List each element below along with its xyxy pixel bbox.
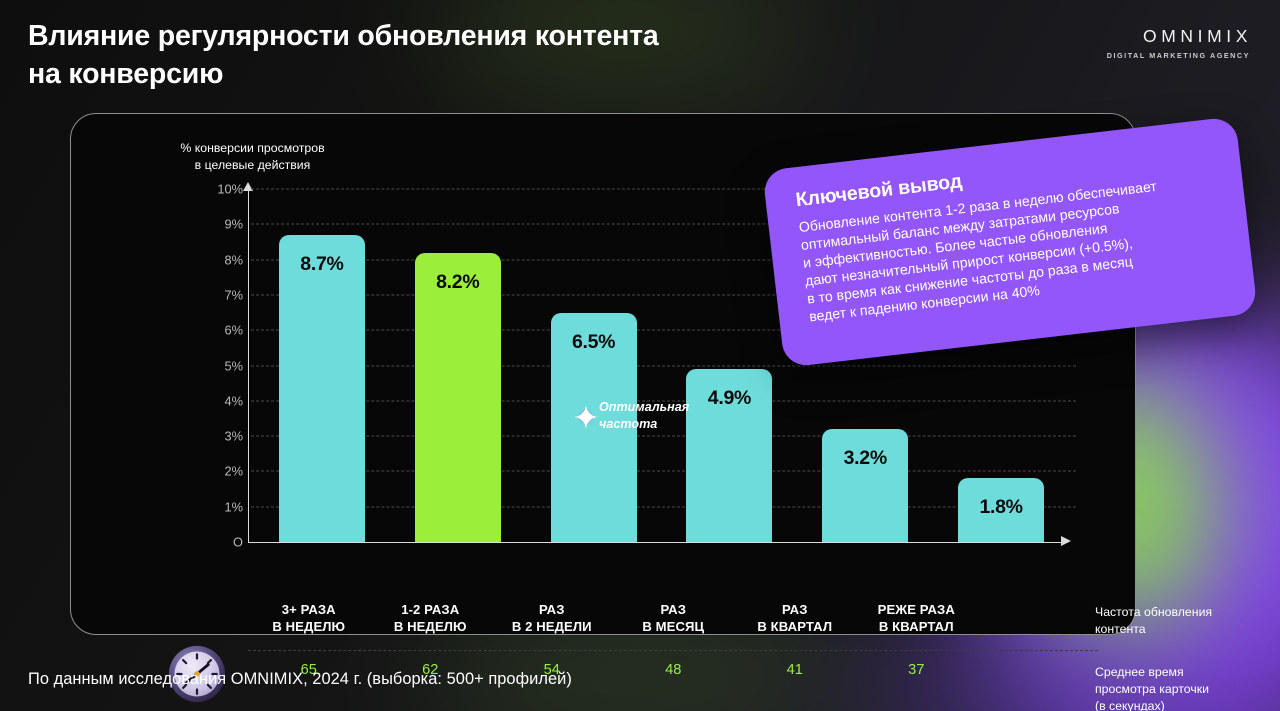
bar-value-label-4: 4.9% xyxy=(708,387,751,410)
category-label-3: РАЗ В 2 НЕДЕЛИ xyxy=(491,601,613,646)
page-title: Влияние регулярности обновления контента… xyxy=(28,18,659,94)
seconds-caption: Среднее время просмотра карточки (в секу… xyxy=(1095,664,1280,711)
y-axis-tick-6: 6% xyxy=(181,323,243,338)
source-footnote: По данным исследования OMNIMIX, 2024 г. … xyxy=(28,670,572,689)
seconds-value-6: 37 xyxy=(856,662,978,678)
bar-value-label-1: 8.7% xyxy=(300,253,343,276)
y-axis-tick-7: 7% xyxy=(181,287,243,302)
sparkle-icon xyxy=(573,404,599,430)
category-label-2: 1-2 РАЗА В НЕДЕЛЮ xyxy=(370,601,492,646)
y-axis-tick-3: 3% xyxy=(181,429,243,444)
y-axis-tick-10: 10% xyxy=(181,182,243,197)
y-axis-tick-2: 2% xyxy=(181,464,243,479)
x-axis-caption: Частота обновления контента xyxy=(1095,604,1280,638)
x-axis-line xyxy=(248,542,1063,543)
header: Влияние регулярности обновления контента… xyxy=(28,18,1252,94)
bar-4[interactable]: 4.9% xyxy=(686,369,772,542)
x-axis-category-labels: 3+ РАЗА В НЕДЕЛЮ1-2 РАЗА В НЕДЕЛЮРАЗ В 2… xyxy=(248,601,977,646)
category-label-4: РАЗ В МЕСЯЦ xyxy=(613,601,735,646)
brand-name: OMNIMIX xyxy=(1107,26,1252,47)
bar-2[interactable]: 8.2% xyxy=(415,253,501,542)
y-axis-tick-9: 9% xyxy=(181,217,243,232)
y-axis-tick-4: 4% xyxy=(181,393,243,408)
y-axis-tick-5: 5% xyxy=(181,358,243,373)
bar-value-label-2: 8.2% xyxy=(436,271,479,294)
seconds-value-5: 41 xyxy=(734,662,856,678)
bar-1[interactable]: 8.7% xyxy=(279,235,365,542)
y-axis-tick-8: 8% xyxy=(181,252,243,267)
bar-5[interactable]: 3.2% xyxy=(822,429,908,542)
bar-value-label-5: 3.2% xyxy=(844,447,887,470)
category-label-5: РАЗ В КВАРТАЛ xyxy=(734,601,856,646)
bar-6[interactable]: 1.8% xyxy=(958,478,1044,542)
brand-tagline: DIGITAL MARKETING AGENCY xyxy=(1107,51,1250,60)
y-axis-tick-1: 1% xyxy=(181,499,243,514)
brand-logo: OMNIMIX DIGITAL MARKETING AGENCY xyxy=(1107,18,1252,60)
bar-value-label-6: 1.8% xyxy=(979,496,1022,519)
y-axis-tick-O: O xyxy=(181,535,243,550)
category-label-1: 3+ РАЗА В НЕДЕЛЮ xyxy=(248,601,370,646)
y-axis-title: % конверсии просмотров в целевые действи… xyxy=(145,140,360,174)
seconds-row-separator xyxy=(248,650,1098,651)
category-label-6: РЕЖЕ РАЗА В КВАРТАЛ xyxy=(856,601,978,646)
seconds-value-4: 48 xyxy=(613,662,735,678)
bar-value-label-3: 6.5% xyxy=(572,331,615,354)
optimal-frequency-annotation: Оптимальная частота xyxy=(599,399,689,432)
